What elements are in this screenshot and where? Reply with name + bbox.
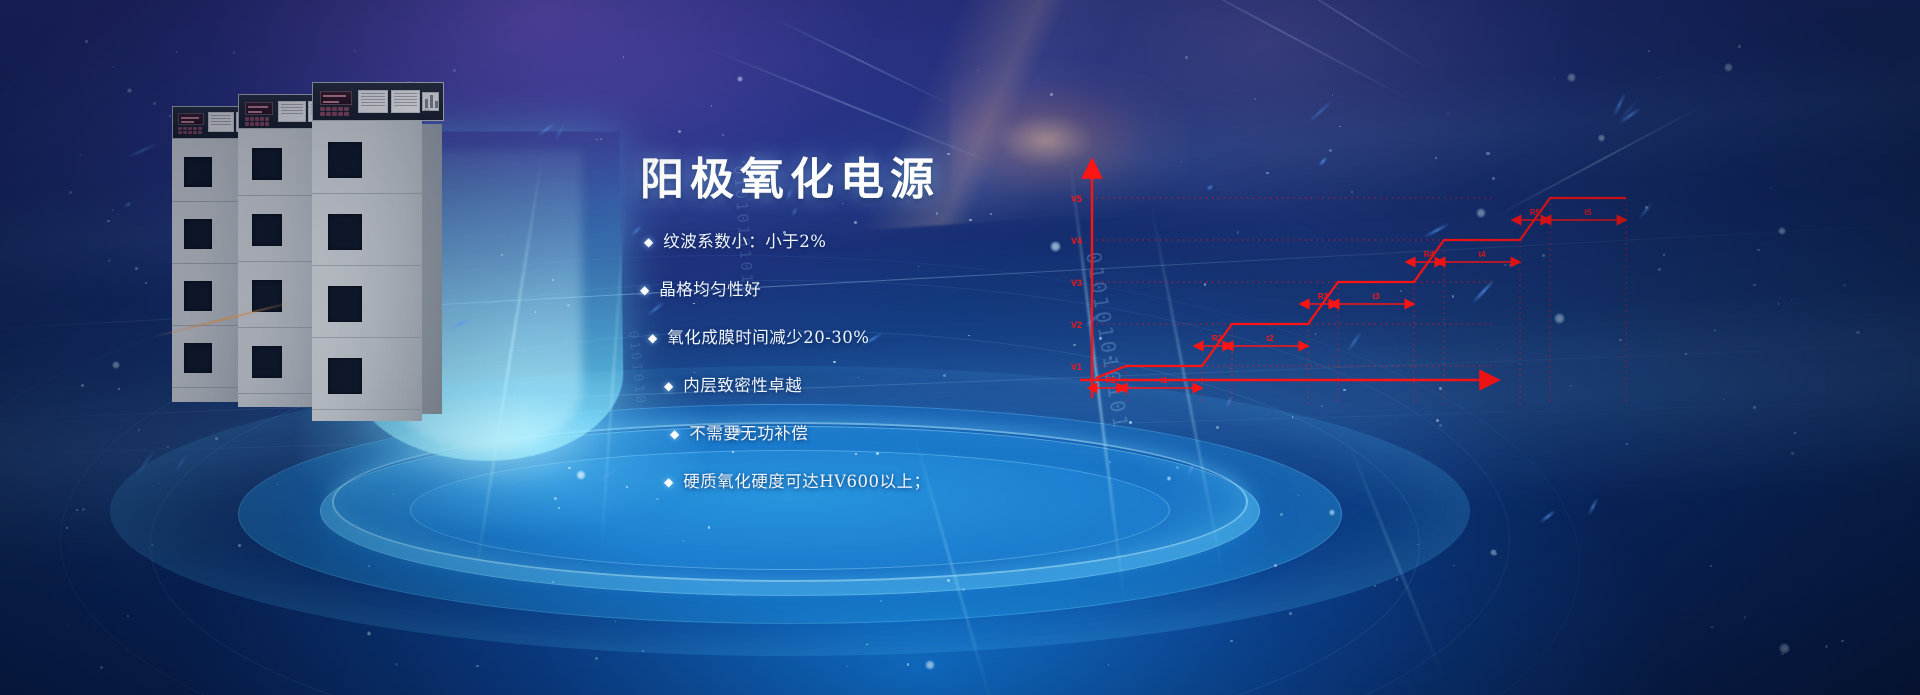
chart-y-tick-label: V1 [1071, 362, 1082, 372]
chart-y-tick-label: V4 [1071, 236, 1082, 246]
chart-annotation-label: R4 [1424, 250, 1435, 259]
diamond-bullet-icon: ◆ [644, 232, 653, 252]
diamond-bullet-icon: ◆ [664, 376, 673, 396]
diamond-bullet-icon: ◆ [640, 280, 649, 300]
page-title: 阳极氧化电源 [640, 143, 940, 207]
chart-annotation-label: R2 [1212, 334, 1223, 343]
list-item-label: 晶格均匀性好 [659, 280, 761, 300]
chart-annotation-label: t5 [1584, 208, 1592, 217]
chart-y-tick-label: V2 [1071, 320, 1082, 330]
voltage-ramp-chart-svg: V1V2V3V4V5R1t1R2t2R3t3R4t4R5t5 [1010, 150, 1510, 410]
diamond-bullet-icon: ◆ [670, 424, 679, 444]
diamond-bullet-icon: ◆ [648, 328, 657, 348]
chart-annotation-label: t4 [1478, 250, 1486, 259]
list-item-label: 内层致密性卓越 [683, 376, 802, 396]
chart-annotation-label: R3 [1318, 292, 1329, 301]
diamond-bullet-icon: ◆ [664, 472, 673, 492]
chart-annotation-label: t3 [1372, 292, 1380, 301]
cabinet-brand-mark: △ [424, 104, 430, 112]
list-item-label: 硬质氧化硬度可达HV600以上； [683, 472, 930, 492]
chart-y-tick-label: V5 [1071, 194, 1082, 204]
list-item: ◆ 硬质氧化硬度可达HV600以上； [664, 472, 1200, 492]
list-item-label: 不需要无功补偿 [689, 424, 808, 444]
chart-annotation-label: t1 [1160, 376, 1168, 385]
chart-y-tick-label: V3 [1071, 278, 1082, 288]
power-supply-cabinet-group: △ [168, 82, 488, 402]
list-item-label: 氧化成膜时间减少20-30% [667, 328, 869, 348]
list-item-label: 纹波系数小：小于2% [663, 232, 826, 252]
chart-annotation-label: t2 [1266, 334, 1274, 343]
anodizing-power-supply-banner: 0101010101010101 01010101010 01010101010… [0, 0, 1920, 695]
voltage-ramp-chart: V1V2V3V4V5R1t1R2t2R3t3R4t4R5t5 [1010, 150, 1510, 410]
list-item: ◆ 不需要无功补偿 [670, 424, 1200, 444]
chart-annotation-label: R1 [1106, 376, 1117, 385]
chart-annotation-label: R5 [1530, 208, 1541, 217]
